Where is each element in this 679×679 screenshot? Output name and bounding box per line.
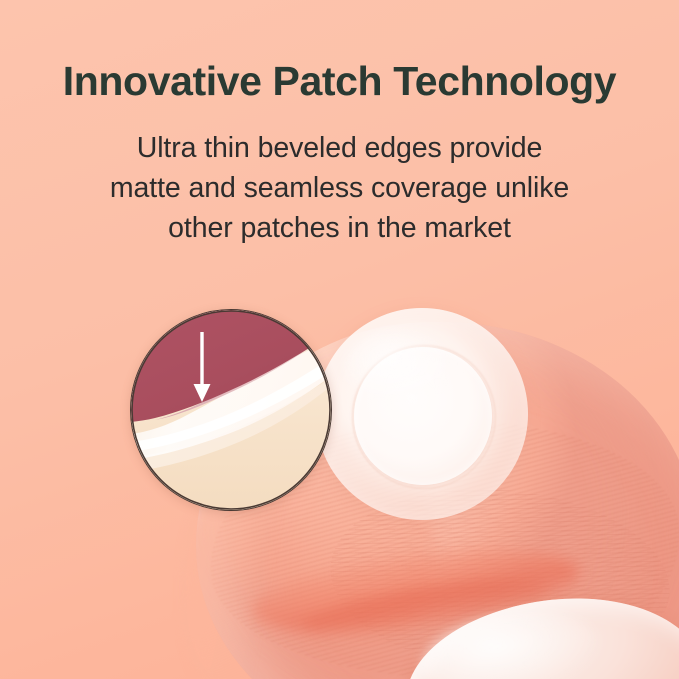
cross-section-magnifier [130, 309, 332, 511]
hand-illustration [0, 0, 679, 679]
patch-gloss-highlight [344, 330, 454, 402]
promo-image: Innovative Patch Technology Ultra thin b… [0, 0, 679, 679]
cross-section-diagram [131, 310, 331, 510]
